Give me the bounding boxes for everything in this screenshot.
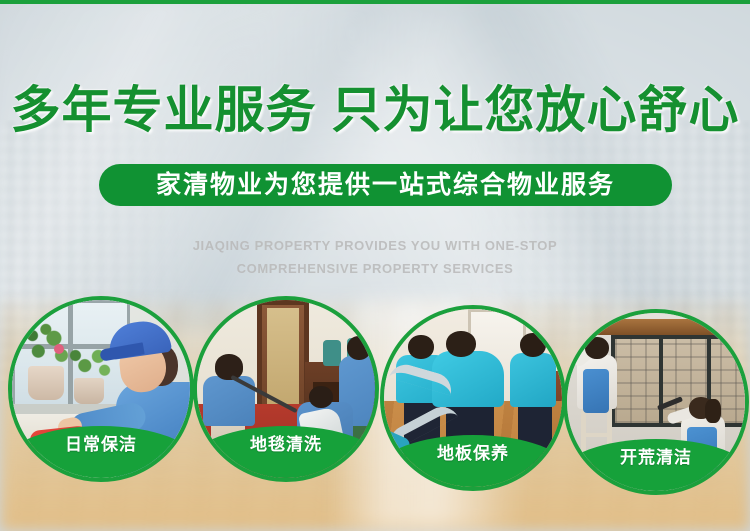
scene-worker1-head (408, 335, 434, 359)
scene-ceiling-beam (567, 319, 745, 335)
promo-banner: 多年专业服务 只为让您放心舒心 家清物业为您提供一站式综合物业服务 JIAQIN… (0, 0, 750, 531)
service-card-carpet-cleaning[interactable]: 地毯清洗 (193, 296, 379, 482)
scene-worker3-head (347, 336, 371, 360)
scene-ladder-rung-2 (581, 433, 609, 437)
scene-plant-foliage-2 (64, 338, 116, 384)
scene-worker1-head (585, 337, 609, 359)
scene-worker1-head (215, 354, 243, 380)
scene-worker2-hair (705, 399, 721, 423)
service-card-floor-maintenance[interactable]: 地板保养 (380, 305, 566, 491)
service-label-text: 地板保养 (437, 443, 509, 465)
scene-worker3-torso (510, 353, 556, 407)
service-label-text: 日常保洁 (65, 434, 137, 456)
service-label-text: 地毯清洗 (250, 434, 322, 456)
service-label-text: 开荒清洁 (620, 447, 692, 469)
scene-flower-bloom (54, 344, 64, 354)
scene-worker2-head (446, 331, 476, 357)
scene-worker1-apron (583, 369, 609, 413)
service-card-daily-cleaning[interactable]: 日常保洁 (8, 296, 194, 482)
scene-worker3-head (520, 333, 546, 357)
scene-window-mullion-1 (659, 335, 663, 427)
scene-worker2-head (309, 386, 333, 408)
service-card-post-construction-cleaning[interactable]: 开荒清洁 (563, 309, 749, 495)
service-cards: 日常保洁 (0, 0, 750, 531)
scene-water-jug-1 (323, 340, 341, 366)
scene-door-panel (267, 308, 299, 404)
